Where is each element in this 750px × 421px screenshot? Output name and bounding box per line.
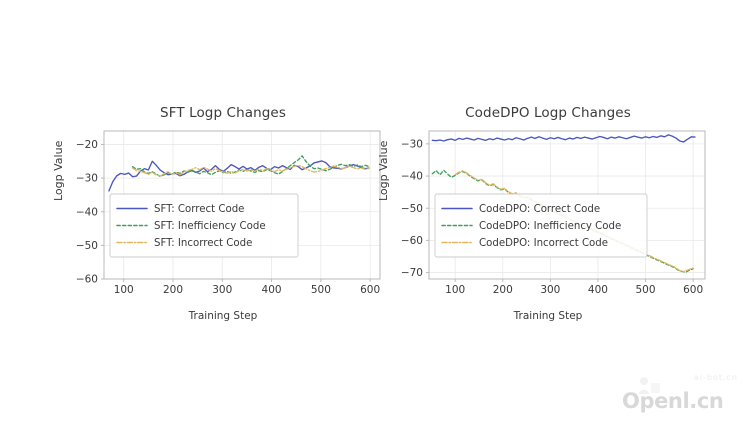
svg-text:SFT: Inefficiency Code: SFT: Inefficiency Code [154, 221, 266, 232]
svg-text:SFT: Correct Code: SFT: Correct Code [154, 204, 244, 215]
svg-text:400: 400 [588, 284, 608, 296]
svg-text:300: 300 [540, 284, 560, 296]
svg-text:−40: −40 [401, 171, 423, 183]
watermark-text: Openl.cn [622, 389, 723, 413]
svg-text:−70: −70 [401, 267, 423, 279]
chart-panel-sft: SFT Logp Changes Logp Value 100200300400… [58, 105, 388, 320]
svg-text:600: 600 [360, 284, 380, 296]
svg-text:600: 600 [683, 284, 703, 296]
svg-text:100: 100 [445, 284, 465, 296]
svg-text:100: 100 [114, 284, 134, 296]
plot-area-codedpo: 100200300400500600−30−40−50−60−70CodeDPO… [383, 123, 713, 303]
svg-text:200: 200 [163, 284, 183, 296]
svg-text:−20: −20 [76, 139, 98, 151]
x-axis-label-codedpo: Training Step [383, 310, 713, 322]
svg-text:500: 500 [635, 284, 655, 296]
svg-text:−40: −40 [76, 206, 98, 218]
svg-text:CodeDPO: Inefficiency Code: CodeDPO: Inefficiency Code [479, 221, 621, 232]
watermark: ai-bot.cn Openl.cn [622, 373, 742, 415]
svg-text:200: 200 [493, 284, 513, 296]
chart-title-sft: SFT Logp Changes [58, 105, 388, 121]
svg-text:SFT: Incorrect Code: SFT: Incorrect Code [154, 238, 252, 249]
chart-title-codedpo: CodeDPO Logp Changes [383, 105, 713, 121]
svg-text:300: 300 [212, 284, 232, 296]
svg-text:−30: −30 [76, 173, 98, 185]
watermark-subtext: ai-bot.cn [694, 373, 738, 382]
svg-text:−30: −30 [401, 138, 423, 150]
svg-text:−50: −50 [76, 240, 98, 252]
svg-text:400: 400 [262, 284, 282, 296]
svg-text:500: 500 [311, 284, 331, 296]
figure-canvas: SFT Logp Changes Logp Value 100200300400… [0, 0, 750, 421]
svg-text:−60: −60 [401, 235, 423, 247]
svg-text:−60: −60 [76, 274, 98, 286]
plot-area-sft: 100200300400500600−20−30−40−50−60SFT: Co… [58, 123, 388, 303]
svg-text:CodeDPO: Correct Code: CodeDPO: Correct Code [479, 204, 600, 215]
x-axis-label-sft: Training Step [58, 310, 388, 322]
svg-text:CodeDPO: Incorrect Code: CodeDPO: Incorrect Code [479, 238, 608, 249]
chart-panel-codedpo: CodeDPO Logp Changes Logp Value 10020030… [383, 105, 713, 320]
svg-text:−50: −50 [401, 203, 423, 215]
